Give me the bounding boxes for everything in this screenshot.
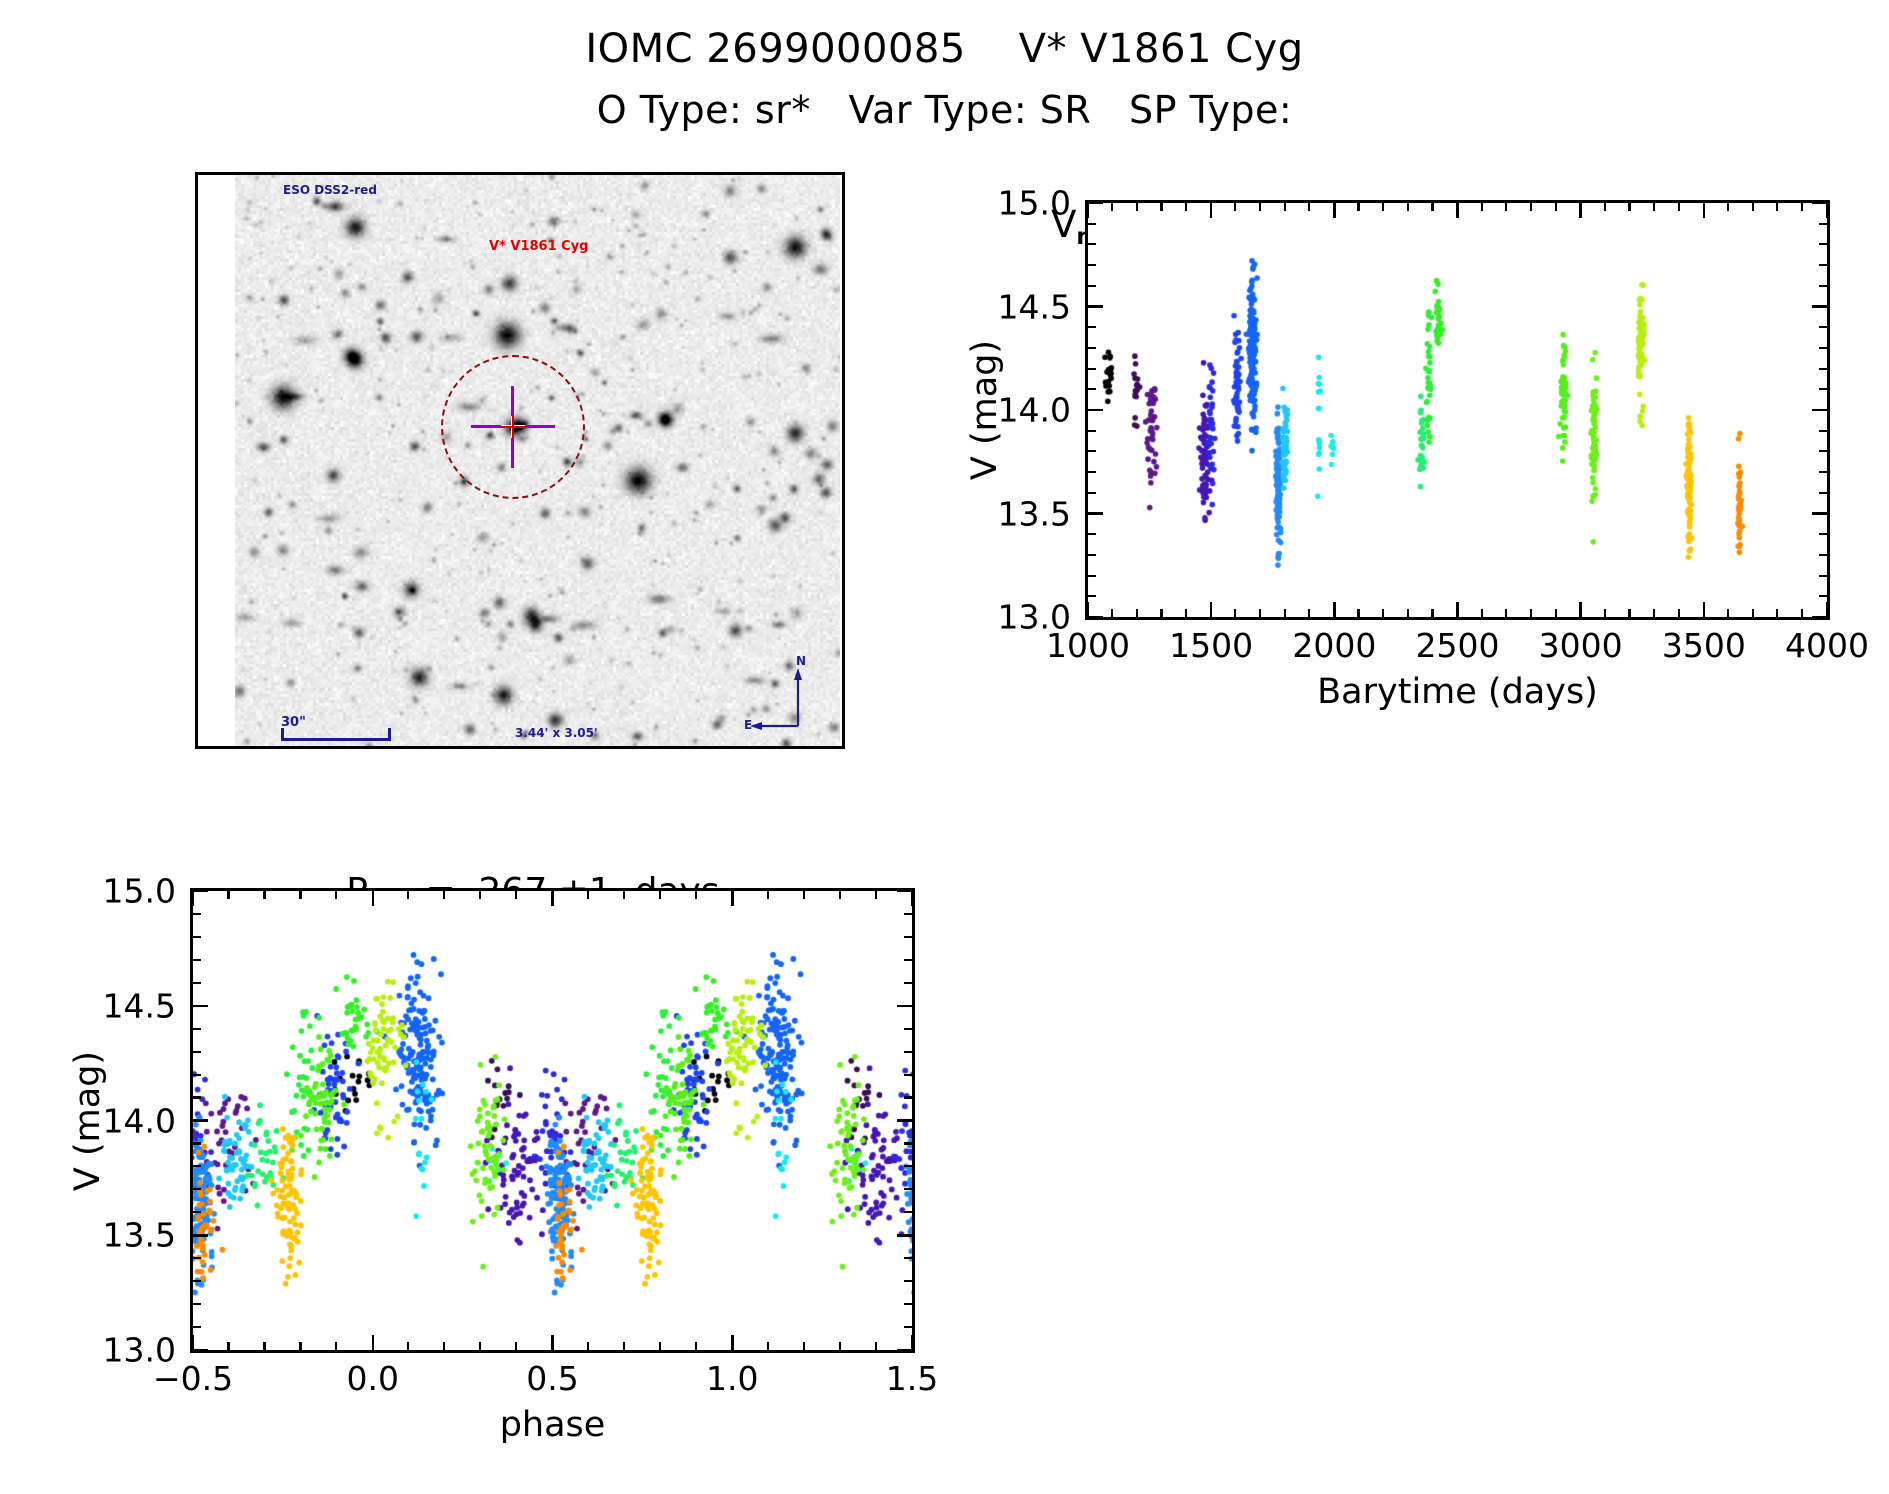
axis-tick: [904, 1188, 912, 1190]
axis-tick: [1819, 471, 1827, 473]
axis-tick: [1812, 616, 1827, 619]
axis-tick: [587, 1342, 589, 1350]
axis-tick: [1088, 368, 1096, 370]
axis-tick: [1088, 409, 1103, 412]
axis-tick: [904, 1326, 912, 1328]
axis-tick: [193, 982, 201, 984]
axis-tick: [407, 891, 409, 899]
axis-tick: [659, 891, 661, 899]
x-tick-label: 3000: [1539, 626, 1623, 665]
axis-tick: [1530, 203, 1532, 211]
axis-tick: [1136, 203, 1138, 211]
barytime-y-axis-title: V (mag): [965, 340, 1005, 480]
axis-tick: [1088, 223, 1096, 225]
axis-tick: [551, 891, 554, 906]
x-tick-label: 1.0: [706, 1359, 758, 1398]
axis-tick: [1752, 203, 1754, 211]
axis-tick: [193, 1188, 201, 1190]
axis-tick: [911, 1335, 914, 1350]
axis-tick: [299, 1342, 301, 1350]
axis-tick: [1604, 203, 1606, 211]
axis-tick: [1234, 203, 1236, 211]
compass-east-label: E: [744, 718, 752, 732]
axis-tick: [227, 891, 229, 899]
axis-tick: [1210, 602, 1213, 617]
axis-tick: [372, 1335, 375, 1350]
axis-tick: [193, 1349, 208, 1352]
compass-icon: N E: [746, 656, 822, 732]
axis-tick: [515, 1342, 517, 1350]
axis-tick: [263, 891, 265, 899]
axis-tick: [193, 1211, 201, 1213]
axis-tick: [1819, 285, 1827, 287]
axis-tick: [731, 891, 734, 906]
axis-tick: [1407, 609, 1409, 617]
axis-tick: [1088, 450, 1096, 452]
y-tick-label: 15.0: [103, 872, 176, 911]
axis-tick: [1678, 203, 1680, 211]
scalebar: [281, 738, 391, 741]
axis-tick: [904, 1051, 912, 1053]
axis-tick: [1819, 264, 1827, 266]
axis-tick: [904, 913, 912, 915]
axis-tick: [1259, 609, 1261, 617]
finder-chart: ESO DSS2-red 3.44' x 3.05' 30" V* V1861 …: [195, 172, 845, 749]
axis-tick: [1819, 554, 1827, 556]
phase-folded-plot: −0.50.00.51.01.5 13.013.514.014.515.0 ph…: [190, 888, 915, 1353]
axis-tick: [1088, 388, 1096, 390]
axis-tick: [1653, 609, 1655, 617]
x-tick-label: 4000: [1785, 626, 1869, 665]
axis-tick: [1505, 203, 1507, 211]
axis-tick: [904, 936, 912, 938]
axis-tick: [1382, 203, 1384, 211]
axis-tick: [1628, 203, 1630, 211]
axis-tick: [1308, 203, 1310, 211]
axis-tick: [1826, 602, 1829, 617]
axis-tick: [1727, 203, 1729, 211]
axis-tick: [515, 891, 517, 899]
axis-tick: [1088, 202, 1103, 205]
axis-tick: [192, 1335, 195, 1350]
axis-tick: [1088, 471, 1096, 473]
axis-tick: [1801, 609, 1803, 617]
scalebar-tick-left: [281, 728, 284, 739]
y-tick-label: 13.5: [998, 494, 1071, 533]
axis-tick: [1812, 512, 1827, 515]
axis-tick: [1088, 595, 1096, 597]
axis-tick: [904, 1142, 912, 1144]
target-star-label: V* V1861 Cyg: [489, 239, 588, 254]
axis-tick: [193, 1051, 201, 1053]
axis-tick: [407, 1342, 409, 1350]
axis-tick: [897, 1005, 912, 1008]
x-tick-label: 1500: [1169, 626, 1253, 665]
axis-tick: [1088, 430, 1096, 432]
axis-tick: [1333, 602, 1336, 617]
axis-tick: [904, 1028, 912, 1030]
axis-tick: [904, 1096, 912, 1098]
axis-tick: [193, 1119, 208, 1122]
x-tick-label: 2500: [1416, 626, 1500, 665]
axis-tick: [1703, 602, 1706, 617]
axis-tick: [551, 1335, 554, 1350]
y-tick-label: 13.0: [998, 598, 1071, 637]
axis-tick: [1579, 602, 1582, 617]
axis-tick: [479, 891, 481, 899]
axis-tick: [299, 891, 301, 899]
axis-tick: [904, 982, 912, 984]
axis-tick: [1382, 609, 1384, 617]
omc-star-summary-page: IOMC 2699000085 V* V1861 Cyg O Type: sr*…: [0, 0, 1889, 1494]
axis-tick: [193, 1142, 201, 1144]
finder-chart-sky-image: ESO DSS2-red 3.44' x 3.05' 30" V* V1861 …: [235, 175, 840, 746]
axis-tick: [193, 1257, 201, 1259]
axis-tick: [1530, 609, 1532, 617]
axis-tick: [1819, 533, 1827, 535]
axis-tick: [695, 891, 697, 899]
axis-tick: [1088, 616, 1103, 619]
axis-tick: [1357, 609, 1359, 617]
y-tick-label: 14.5: [998, 287, 1071, 326]
axis-tick: [193, 1074, 201, 1076]
y-tick-label: 13.0: [103, 1331, 176, 1370]
axis-tick: [731, 1335, 734, 1350]
axis-tick: [803, 891, 805, 899]
axis-tick: [479, 1342, 481, 1350]
y-tick-label: 14.0: [998, 391, 1071, 430]
axis-tick: [193, 1326, 201, 1328]
axis-tick: [193, 1234, 208, 1237]
axis-tick: [193, 1165, 201, 1167]
axis-tick: [443, 1342, 445, 1350]
axis-tick: [1653, 203, 1655, 211]
axis-tick: [1481, 609, 1483, 617]
axis-tick: [1826, 203, 1829, 218]
axis-tick: [1481, 203, 1483, 211]
axis-tick: [1812, 305, 1827, 308]
axis-tick: [904, 1257, 912, 1259]
axis-tick: [587, 891, 589, 899]
axis-tick: [767, 891, 769, 899]
axis-tick: [1088, 554, 1096, 556]
axis-tick: [193, 1096, 201, 1098]
axis-tick: [897, 1349, 912, 1352]
axis-tick: [1776, 203, 1778, 211]
y-tick-label: 15.0: [998, 184, 1071, 223]
axis-tick: [904, 1074, 912, 1076]
page-title: IOMC 2699000085 V* V1861 Cyg: [0, 26, 1889, 72]
axis-tick: [1088, 305, 1103, 308]
axis-tick: [1259, 203, 1261, 211]
phase-data-points: [193, 891, 912, 1350]
axis-tick: [1819, 575, 1827, 577]
axis-tick: [1579, 203, 1582, 218]
axis-tick: [1185, 203, 1187, 211]
scalebar-label: 30": [281, 715, 306, 730]
axis-tick: [1088, 533, 1096, 535]
axis-tick: [1819, 595, 1827, 597]
axis-tick: [193, 890, 208, 893]
axis-tick: [1210, 203, 1213, 218]
axis-tick: [193, 1303, 201, 1305]
axis-tick: [1111, 609, 1113, 617]
axis-tick: [192, 891, 195, 906]
axis-tick: [1234, 609, 1236, 617]
axis-tick: [1088, 512, 1103, 515]
field-of-view-label: 3.44' x 3.05': [515, 726, 598, 740]
axis-tick: [1752, 609, 1754, 617]
axis-tick: [1812, 409, 1827, 412]
axis-tick: [1185, 609, 1187, 617]
compass-north-label: N: [796, 654, 806, 668]
axis-tick: [897, 1234, 912, 1237]
axis-tick: [1801, 203, 1803, 211]
phase-x-axis-title: phase: [500, 1405, 606, 1445]
survey-label: ESO DSS2-red: [283, 183, 377, 197]
axis-tick: [1678, 609, 1680, 617]
y-tick-label: 13.5: [103, 1216, 176, 1255]
axis-tick: [911, 891, 914, 906]
axis-tick: [904, 1165, 912, 1167]
axis-tick: [839, 891, 841, 899]
axis-tick: [443, 891, 445, 899]
axis-tick: [193, 959, 201, 961]
axis-tick: [193, 936, 201, 938]
y-tick-label: 14.0: [103, 1101, 176, 1140]
axis-tick: [1819, 450, 1827, 452]
axis-tick: [1727, 609, 1729, 617]
x-tick-label: 3500: [1662, 626, 1746, 665]
axis-tick: [1628, 609, 1630, 617]
axis-tick: [193, 913, 201, 915]
barytime-lightcurve-plot: 1000150020002500300035004000 13.013.514.…: [1085, 200, 1830, 620]
axis-tick: [1333, 203, 1336, 218]
axis-tick: [767, 1342, 769, 1350]
axis-tick: [1088, 264, 1096, 266]
axis-tick: [263, 1342, 265, 1350]
axis-tick: [1776, 609, 1778, 617]
axis-tick: [227, 1342, 229, 1350]
axis-tick: [875, 891, 877, 899]
axis-tick: [1819, 368, 1827, 370]
x-tick-label: 0.5: [526, 1359, 578, 1398]
axis-tick: [1505, 609, 1507, 617]
axis-tick: [193, 1280, 201, 1282]
axis-tick: [1087, 203, 1090, 218]
phase-y-axis-title: V (mag): [68, 1050, 108, 1190]
axis-tick: [897, 1119, 912, 1122]
axis-tick: [1088, 492, 1096, 494]
axis-tick: [1456, 602, 1459, 617]
axis-tick: [1555, 609, 1557, 617]
axis-tick: [335, 891, 337, 899]
axis-tick: [659, 1342, 661, 1350]
x-tick-label: 0.0: [347, 1359, 399, 1398]
axis-tick: [1160, 609, 1162, 617]
target-marker-vertical: [512, 416, 514, 438]
axis-tick: [1407, 203, 1409, 211]
axis-tick: [1819, 388, 1827, 390]
axis-tick: [1284, 609, 1286, 617]
x-tick-label: 2000: [1292, 626, 1376, 665]
axis-tick: [1357, 203, 1359, 211]
scalebar-tick-right: [388, 728, 391, 739]
axis-tick: [623, 1342, 625, 1350]
axis-tick: [1088, 326, 1096, 328]
axis-tick: [1604, 609, 1606, 617]
barytime-data-points: [1088, 203, 1827, 617]
axis-tick: [1088, 575, 1096, 577]
axis-tick: [1819, 430, 1827, 432]
axis-tick: [1431, 203, 1433, 211]
axis-tick: [904, 1280, 912, 1282]
axis-tick: [904, 959, 912, 961]
axis-tick: [623, 891, 625, 899]
axis-tick: [1555, 203, 1557, 211]
axis-tick: [1819, 243, 1827, 245]
axis-tick: [1431, 609, 1433, 617]
object-type-line: O Type: sr* Var Type: SR SP Type:: [0, 88, 1889, 132]
axis-tick: [839, 1342, 841, 1350]
axis-tick: [904, 1211, 912, 1213]
axis-tick: [1160, 203, 1162, 211]
axis-tick: [695, 1342, 697, 1350]
axis-tick: [1819, 223, 1827, 225]
x-tick-label: 1.5: [886, 1359, 938, 1398]
axis-tick: [1284, 203, 1286, 211]
barytime-x-axis-title: Barytime (days): [1317, 672, 1598, 712]
axis-tick: [1111, 203, 1113, 211]
axis-tick: [1088, 347, 1096, 349]
axis-tick: [1136, 609, 1138, 617]
axis-tick: [193, 1005, 208, 1008]
axis-tick: [875, 1342, 877, 1350]
axis-tick: [1812, 202, 1827, 205]
axis-tick: [372, 891, 375, 906]
axis-tick: [1087, 602, 1090, 617]
axis-tick: [1456, 203, 1459, 218]
axis-tick: [1088, 285, 1096, 287]
axis-tick: [897, 890, 912, 893]
axis-tick: [1308, 609, 1310, 617]
axis-tick: [1819, 492, 1827, 494]
axis-tick: [1819, 326, 1827, 328]
axis-tick: [1703, 203, 1706, 218]
axis-tick: [803, 1342, 805, 1350]
axis-tick: [904, 1303, 912, 1305]
axis-tick: [193, 1028, 201, 1030]
axis-tick: [1819, 347, 1827, 349]
y-tick-label: 14.5: [103, 986, 176, 1025]
axis-tick: [1088, 243, 1096, 245]
axis-tick: [335, 1342, 337, 1350]
